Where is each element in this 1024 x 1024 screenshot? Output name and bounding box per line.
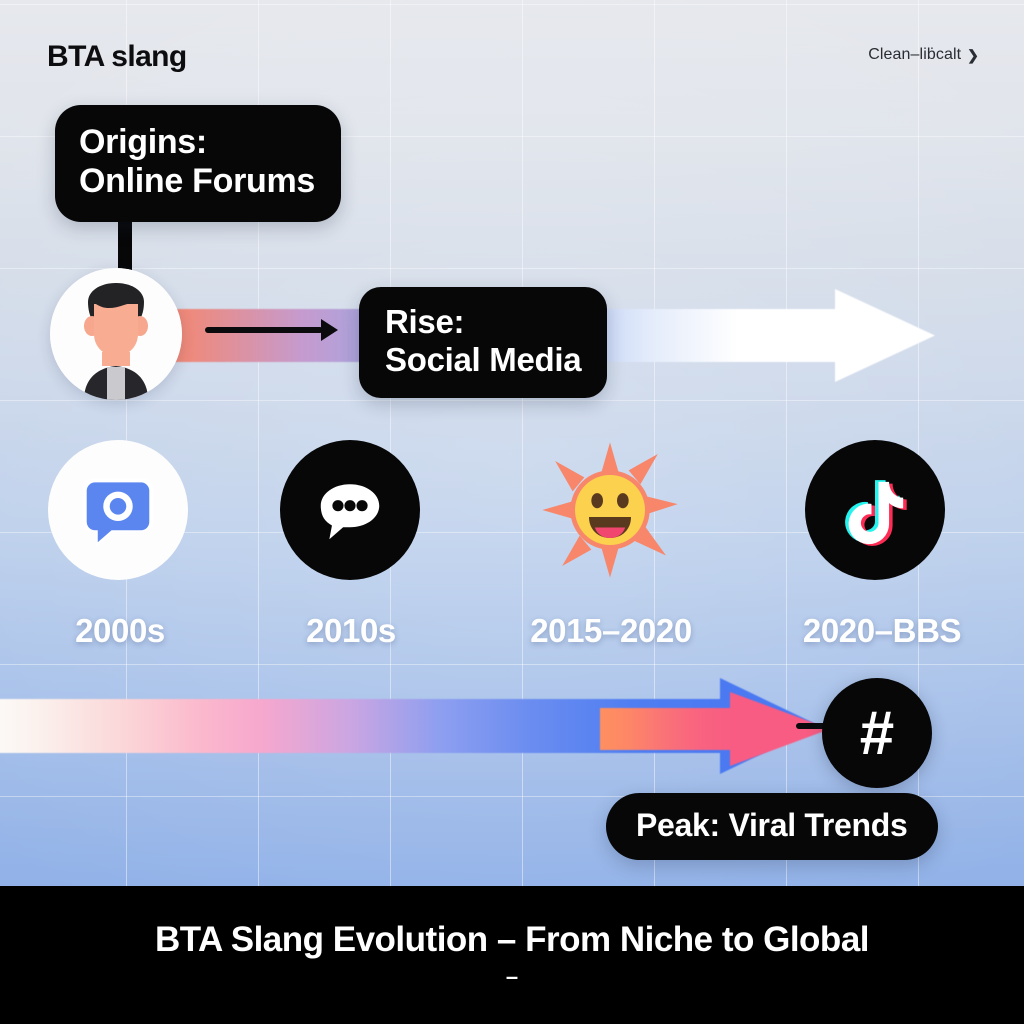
callout-rise-line2: Social Media [385, 341, 581, 379]
timeline-step-2000s[interactable] [28, 440, 208, 580]
corner-tag-label: Clean–liḃcalt [868, 46, 961, 64]
arrow-head [835, 289, 935, 382]
corner-tag: Clean–liḃcalt ❯ [868, 46, 979, 64]
person-avatar-icon [50, 268, 182, 400]
arrow-head [321, 319, 338, 341]
timeline-label-2010s: 2010s [236, 612, 466, 650]
timeline-step-2020-bbs[interactable] [785, 440, 965, 580]
page-title: BTA slang [47, 40, 187, 74]
footer-caption-bar: BTA Slang Evolution – From Niche to Glob… [0, 886, 1024, 1024]
timeline-label-2015-2020: 2015–2020 [496, 612, 726, 650]
smiling-sun-emoji-icon [540, 435, 680, 585]
callout-peak: Peak: Viral Trends [606, 793, 938, 860]
chat-dots-icon [307, 467, 393, 553]
infographic-canvas: BTA slang Clean–liḃcalt ❯ Origins: [0, 0, 1024, 1024]
step-disc [540, 440, 680, 580]
timeline-step-2015-2020[interactable] [520, 440, 700, 580]
footer-subcaption: – [506, 964, 518, 990]
step-disc [280, 440, 420, 580]
callout-origins-line1: Origins: [79, 123, 315, 162]
step-disc [48, 440, 188, 580]
tiktok-logo-icon [831, 466, 919, 554]
arrow-shaft [205, 327, 323, 333]
step-disc [805, 440, 945, 580]
avatar [50, 268, 182, 400]
footer-caption: BTA Slang Evolution – From Niche to Glob… [155, 920, 869, 960]
bottom-gradient-arrow-short [600, 692, 830, 766]
callout-origins-line2: Online Forums [79, 162, 315, 201]
hashtag-badge: # [822, 678, 932, 788]
chevron-right-icon: ❯ [967, 47, 979, 64]
arrow-body [600, 708, 734, 749]
callout-rise-line1: Rise: [385, 303, 581, 341]
callout-origins: Origins: Online Forums [55, 105, 341, 222]
blue-chat-bubble-icon [72, 464, 164, 556]
timeline-step-2010s[interactable] [260, 440, 440, 580]
avatar-to-rise-arrow-icon [205, 319, 338, 341]
arrow-head [730, 692, 830, 766]
timeline-label-2020-bbs: 2020–BBS [767, 612, 997, 650]
timeline-label-2000s: 2000s [5, 612, 235, 650]
callout-rise: Rise: Social Media [359, 287, 607, 398]
